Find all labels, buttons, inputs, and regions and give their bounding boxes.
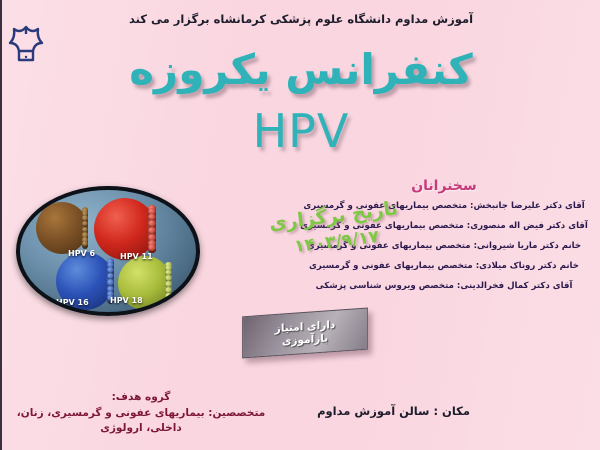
speakers-heading: سخنرانان [294, 178, 594, 194]
retraining-credit-badge: دارای امتیاز بازآموزی [242, 308, 368, 359]
virion-label-hpv11: HPV 11 [120, 252, 153, 261]
list-item: آقای دکتر کمال فخرالدینی: متخصص ویروس شن… [294, 282, 594, 291]
hpv-virion-illustration: HPV 6 HPV 11 HPV 16 HPV 18 [16, 186, 200, 316]
list-item: خانم دکتر روناک میلادی: متخصص بیماریهای … [294, 262, 594, 271]
target-audience-line-1: متخصصین: بیماریهای عفونی و گرمسیری، زنان… [16, 406, 266, 421]
target-audience-section: گروه هدف: متخصصین: بیماریهای عفونی و گرم… [16, 391, 266, 436]
virion-hpv11 [94, 198, 156, 260]
target-audience-line-2: داخلی، ارولوژی [16, 421, 266, 436]
virion-label-hpv6: HPV 6 [68, 249, 95, 258]
virion-label-hpv18: HPV 18 [110, 296, 143, 305]
virion-hpv6 [36, 202, 88, 254]
header-organizer-text: آموزش مداوم دانشگاه علوم پزشکی کرمانشاه … [2, 12, 600, 26]
virion-label-hpv16: HPV 16 [56, 298, 89, 307]
target-audience-title: گروه هدف: [16, 391, 266, 403]
venue-text: مکان : سالن آموزش مداوم [317, 404, 470, 418]
conference-poster: آموزش مداوم دانشگاه علوم پزشکی کرمانشاه … [0, 0, 600, 450]
credit-badge-line-2: بازآموزی [282, 332, 328, 347]
page-title-english: HPV [2, 104, 600, 158]
page-title-farsi: کنفرانس یکروزه [2, 48, 600, 92]
